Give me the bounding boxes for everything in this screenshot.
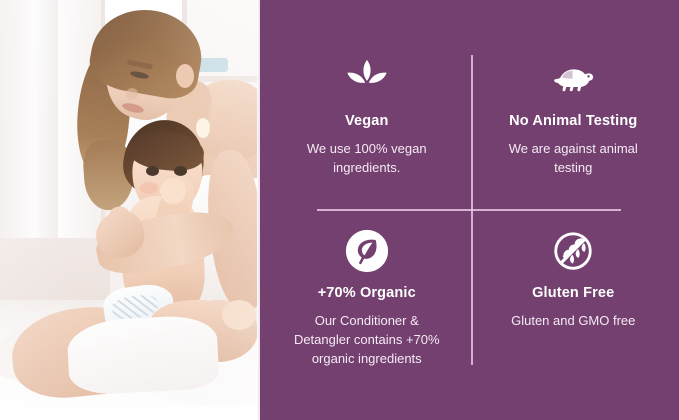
feature-title: Vegan bbox=[345, 113, 388, 130]
feature-description: Our Conditioner & Detangler contains +70… bbox=[286, 312, 448, 369]
mother-and-baby-photo bbox=[0, 0, 260, 420]
feature-title: Gluten Free bbox=[532, 285, 614, 302]
product-feature-banner: Vegan We use 100% vegan ingredients. bbox=[0, 0, 679, 420]
feature-no-animal-testing: No Animal Testing We are against animal … bbox=[470, 0, 679, 210]
feature-organic: +70% Organic Our Conditioner & Detangler… bbox=[260, 210, 470, 420]
feature-gluten-free: Gluten Free Gluten and GMO free bbox=[470, 210, 679, 420]
turtle-icon bbox=[550, 56, 596, 102]
crossed-wheat-icon bbox=[550, 228, 596, 274]
photo-highlight-overlay bbox=[0, 0, 260, 420]
feature-title: No Animal Testing bbox=[509, 113, 637, 130]
feature-description: We are against animal testing bbox=[492, 140, 656, 178]
features-grid: Vegan We use 100% vegan ingredients. bbox=[260, 0, 679, 420]
feature-description: We use 100% vegan ingredients. bbox=[286, 140, 448, 178]
feature-description: Gluten and GMO free bbox=[511, 312, 635, 331]
three-leaves-icon bbox=[344, 56, 390, 102]
feature-vegan: Vegan We use 100% vegan ingredients. bbox=[260, 0, 470, 210]
features-panel: Vegan We use 100% vegan ingredients. bbox=[260, 0, 679, 420]
feature-title: +70% Organic bbox=[318, 285, 416, 302]
leaf-in-circle-icon bbox=[344, 228, 390, 274]
